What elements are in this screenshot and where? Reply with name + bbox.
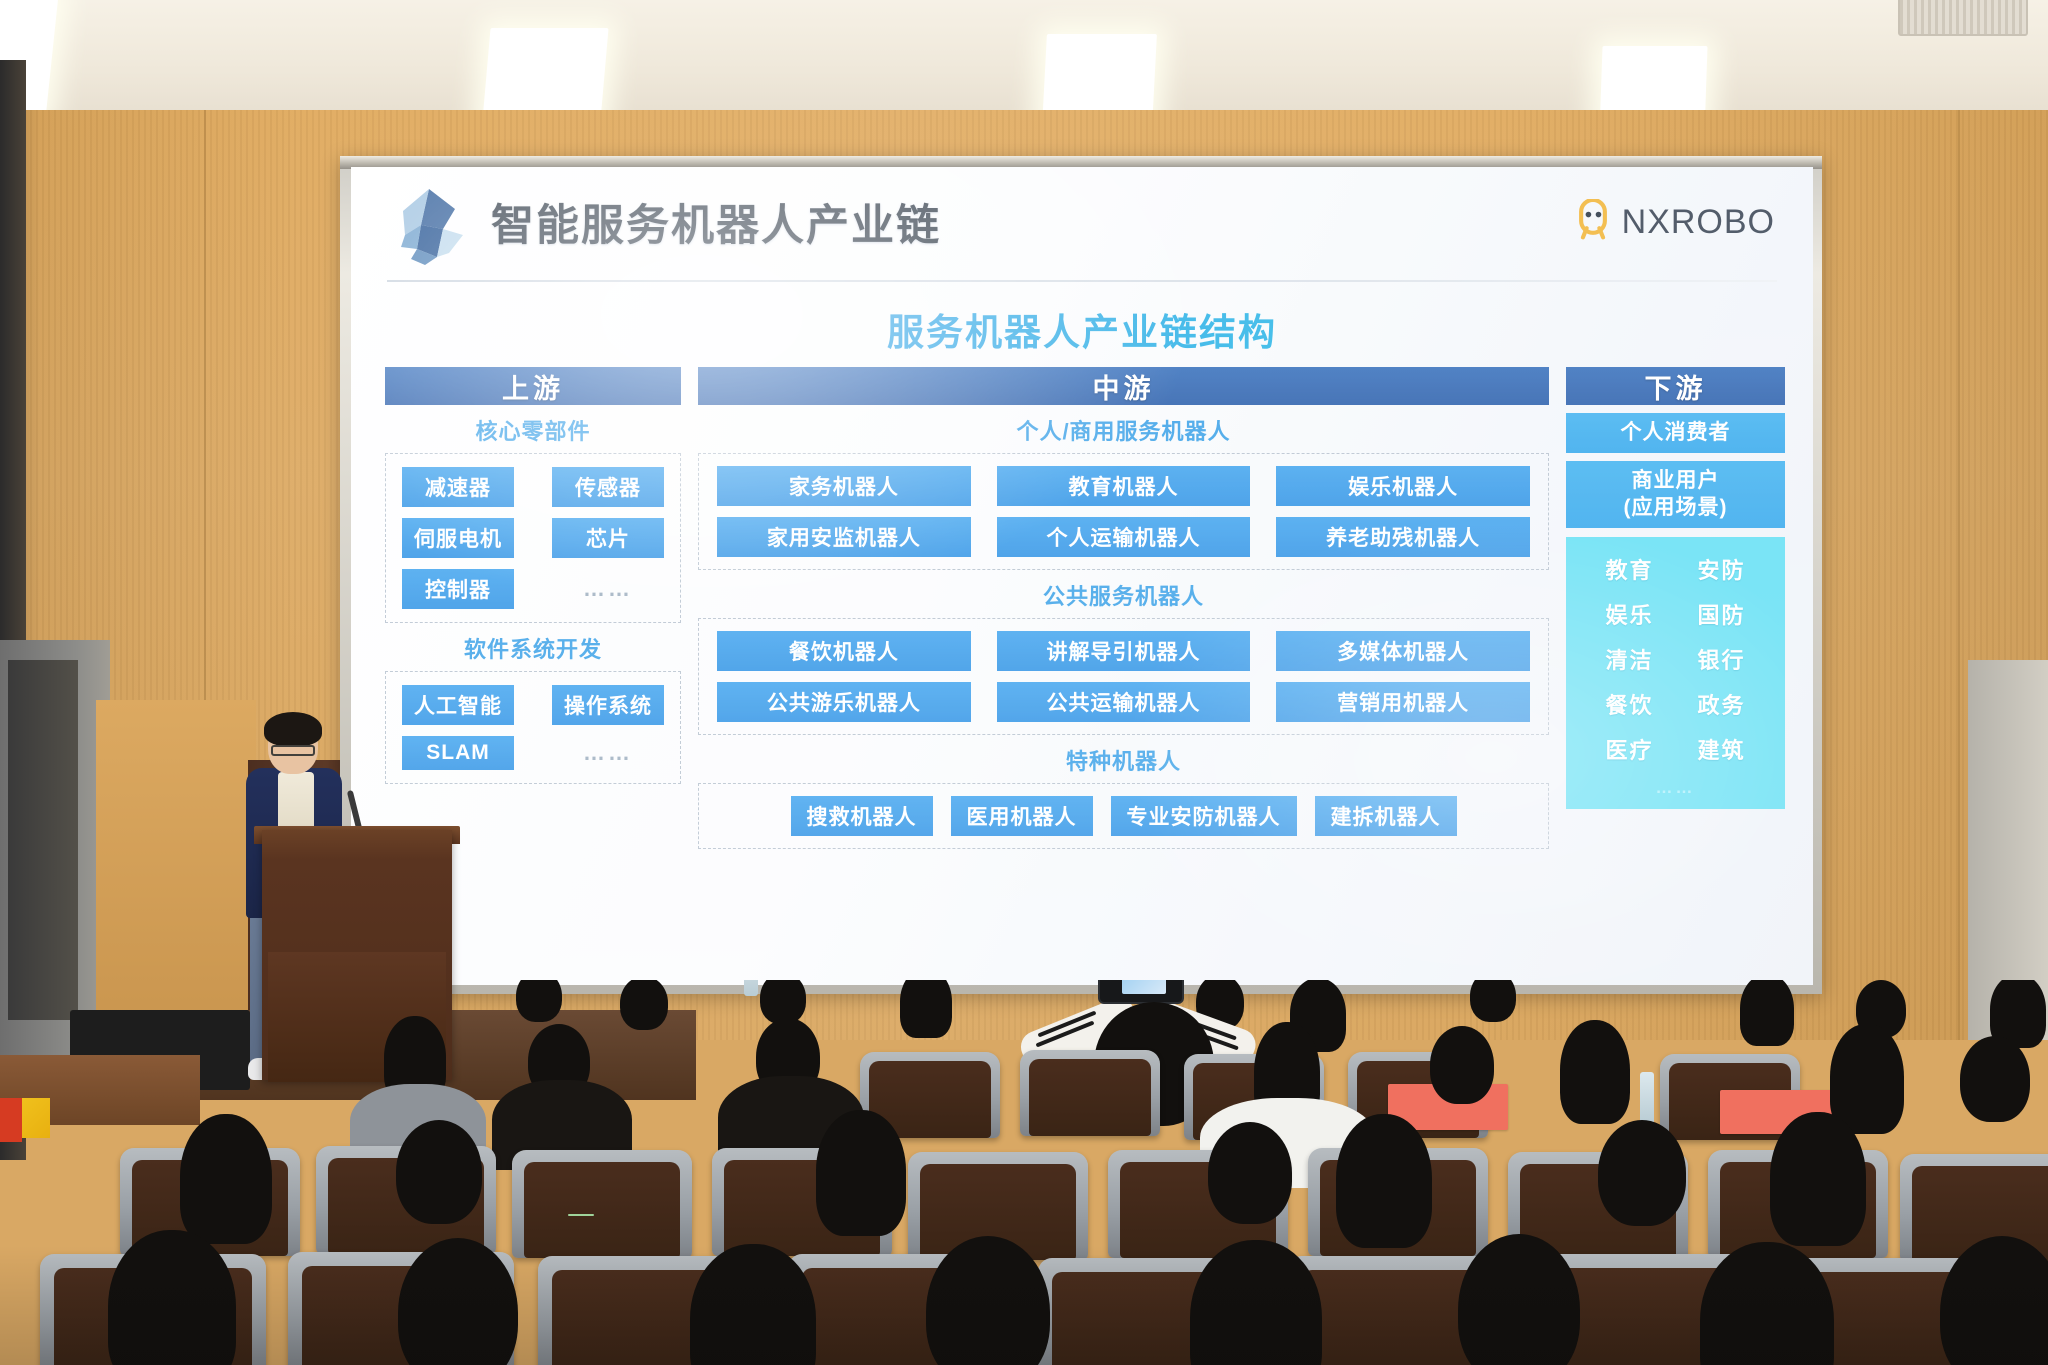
downstream-application-tags: 教育 安防 娱乐 国防 清洁 银行 餐饮 政务 bbox=[1566, 537, 1785, 809]
side-door bbox=[8, 660, 78, 1020]
tag-row: 医疗 建筑 bbox=[1566, 733, 1785, 765]
audience-head bbox=[108, 1230, 236, 1365]
chip-item[interactable]: 搜救机器人 bbox=[791, 796, 933, 836]
subhead-core-components: 核心零部件 bbox=[385, 405, 681, 453]
chip-row: 搜救机器人 医用机器人 专业安防机器人 建拆机器人 bbox=[717, 796, 1530, 836]
audience-head bbox=[1470, 980, 1516, 1022]
crystal-polygon-logo-icon bbox=[387, 185, 471, 269]
chip-item[interactable]: 人工智能 bbox=[402, 685, 514, 725]
chip-row: 减速器 传感器 bbox=[402, 467, 664, 507]
header-divider bbox=[387, 280, 1777, 282]
tag-item[interactable]: 银行 bbox=[1691, 643, 1753, 675]
subhead-public-service: 公共服务机器人 bbox=[698, 570, 1549, 618]
tag-row: 教育 安防 bbox=[1566, 553, 1785, 585]
phone-screen bbox=[1122, 980, 1166, 994]
chip-item[interactable]: 传感器 bbox=[552, 467, 664, 507]
chip-row: 家务机器人 教育机器人 娱乐机器人 bbox=[717, 466, 1530, 506]
column-midstream: 中游 个人/商用服务机器人 家务机器人 教育机器人 娱乐机器人 家用安监机器人 … bbox=[698, 367, 1549, 957]
tag-row: 清洁 银行 bbox=[1566, 643, 1785, 675]
tag-item[interactable]: 医疗 bbox=[1599, 733, 1661, 765]
brand-name: NXROBO bbox=[1622, 203, 1775, 242]
audience-head bbox=[1208, 1122, 1292, 1224]
chip-item[interactable]: 减速器 bbox=[402, 467, 514, 507]
ellipsis-more: …… bbox=[1566, 778, 1785, 798]
nxrobo-robot-icon bbox=[1572, 199, 1614, 246]
chip-item[interactable]: 控制器 bbox=[402, 569, 514, 609]
chip-item[interactable]: 教育机器人 bbox=[997, 466, 1251, 506]
chip-row: 餐饮机器人 讲解导引机器人 多媒体机器人 bbox=[717, 631, 1530, 671]
wall-seam bbox=[1958, 110, 1960, 1040]
chip-row: 公共游乐机器人 公共运输机器人 营销用机器人 bbox=[717, 682, 1530, 722]
tag-item[interactable]: 国防 bbox=[1691, 598, 1753, 630]
chip-item[interactable]: 养老助残机器人 bbox=[1276, 517, 1530, 557]
column-header-midstream: 中游 bbox=[698, 367, 1549, 405]
audience-head bbox=[1430, 1026, 1494, 1104]
ellipsis-more: …… bbox=[552, 576, 664, 602]
chip-item[interactable]: 操作系统 bbox=[552, 685, 664, 725]
glasses-icon bbox=[271, 745, 315, 756]
projection-screen-frame: 智能服务机器人产业链 NXROBO 服务机器人产业链结构 bbox=[340, 156, 1822, 994]
chip-item[interactable]: 专业安防机器人 bbox=[1111, 796, 1297, 836]
audience-head bbox=[1336, 1114, 1432, 1248]
tag-item[interactable]: 安防 bbox=[1691, 553, 1753, 585]
column-downstream: 下游 个人消费者 商业用户 (应用场景) 教育 安防 bbox=[1566, 367, 1785, 957]
ellipsis-more: …… bbox=[552, 740, 664, 766]
water-bottle bbox=[1640, 1072, 1654, 1124]
downstream-box-line: 商业用户 bbox=[1566, 468, 1785, 494]
audience-head bbox=[516, 980, 562, 1022]
subhead-personal-commercial: 个人/商用服务机器人 bbox=[698, 405, 1549, 453]
tag-item[interactable]: 教育 bbox=[1599, 553, 1661, 585]
chip-item[interactable]: 伺服电机 bbox=[402, 518, 514, 558]
presentation-slide: 智能服务机器人产业链 NXROBO 服务机器人产业链结构 bbox=[351, 167, 1813, 985]
chip-row: SLAM …… bbox=[402, 736, 664, 770]
auditorium-room: 智能服务机器人产业链 NXROBO 服务机器人产业链结构 bbox=[0, 0, 2048, 1365]
seat bbox=[512, 1150, 692, 1258]
group-core-components: 减速器 传感器 伺服电机 芯片 控制器 …… bbox=[385, 453, 681, 623]
audience-head bbox=[1560, 1020, 1630, 1124]
downstream-box-line: 个人消费者 bbox=[1566, 420, 1785, 446]
downstream-box-line: (应用场景) bbox=[1566, 495, 1785, 521]
chip-row: 控制器 …… bbox=[402, 569, 664, 609]
audience-head bbox=[900, 980, 952, 1038]
audience-head bbox=[180, 1114, 272, 1244]
chip-item[interactable]: SLAM bbox=[402, 736, 514, 770]
downstream-box-consumer[interactable]: 个人消费者 bbox=[1566, 413, 1785, 453]
tag-item[interactable]: 建筑 bbox=[1691, 733, 1753, 765]
tag-row: 餐饮 政务 bbox=[1566, 688, 1785, 720]
chip-item[interactable]: 芯片 bbox=[552, 518, 664, 558]
chip-item[interactable]: 建拆机器人 bbox=[1315, 796, 1457, 836]
chip-item[interactable]: 餐饮机器人 bbox=[717, 631, 971, 671]
audience-head bbox=[816, 1110, 906, 1236]
seat-number bbox=[568, 1214, 594, 1216]
chip-item[interactable]: 讲解导引机器人 bbox=[997, 631, 1251, 671]
chip-item[interactable]: 医用机器人 bbox=[951, 796, 1093, 836]
chip-row: 人工智能 操作系统 bbox=[402, 685, 664, 725]
tag-item[interactable]: 清洁 bbox=[1599, 643, 1661, 675]
group-special-robots: 搜救机器人 医用机器人 专业安防机器人 建拆机器人 bbox=[698, 783, 1549, 849]
chip-item[interactable]: 公共运输机器人 bbox=[997, 682, 1251, 722]
chip-item[interactable]: 家用安监机器人 bbox=[717, 517, 971, 557]
tag-item[interactable]: 政务 bbox=[1691, 688, 1753, 720]
chart-title: 服务机器人产业链结构 bbox=[351, 302, 1813, 356]
chip-item[interactable]: 营销用机器人 bbox=[1276, 682, 1530, 722]
water-bottle bbox=[744, 980, 758, 996]
audience-head bbox=[1770, 1112, 1866, 1246]
column-header-upstream: 上游 bbox=[385, 367, 681, 405]
brand-logo: NXROBO bbox=[1572, 199, 1775, 246]
page-title: 智能服务机器人产业链 bbox=[491, 191, 941, 253]
chip-item[interactable]: 娱乐机器人 bbox=[1276, 466, 1530, 506]
audience-head bbox=[1598, 1120, 1686, 1226]
audience-head bbox=[620, 980, 668, 1030]
chip-item[interactable]: 公共游乐机器人 bbox=[717, 682, 971, 722]
group-personal-commercial: 家务机器人 教育机器人 娱乐机器人 家用安监机器人 个人运输机器人 养老助残机器… bbox=[698, 453, 1549, 570]
subhead-special-robots: 特种机器人 bbox=[698, 735, 1549, 783]
group-software-system: 人工智能 操作系统 SLAM …… bbox=[385, 671, 681, 784]
chip-row: 伺服电机 芯片 bbox=[402, 518, 664, 558]
speaker-hair bbox=[264, 712, 322, 746]
audience-area bbox=[0, 980, 2048, 1365]
ceiling bbox=[0, 0, 2048, 118]
tag-row: 娱乐 国防 bbox=[1566, 598, 1785, 630]
group-public-service: 餐饮机器人 讲解导引机器人 多媒体机器人 公共游乐机器人 公共运输机器人 营销用… bbox=[698, 618, 1549, 735]
audience-head bbox=[1960, 1036, 2030, 1122]
value-chain-diagram: 上游 核心零部件 减速器 传感器 伺服电机 芯片 控制器 bbox=[385, 367, 1785, 957]
downstream-box-business[interactable]: 商业用户 (应用场景) bbox=[1566, 461, 1785, 528]
audience-head bbox=[1740, 980, 1794, 1046]
column-header-downstream: 下游 bbox=[1566, 367, 1785, 405]
smartphone-icon bbox=[1098, 980, 1184, 1004]
chip-item[interactable]: 个人运输机器人 bbox=[997, 517, 1251, 557]
audience-head bbox=[1830, 1024, 1904, 1134]
chip-item[interactable]: 家务机器人 bbox=[717, 466, 971, 506]
air-vent bbox=[1898, 0, 2028, 36]
audience-head bbox=[396, 1120, 482, 1224]
tag-item[interactable]: 娱乐 bbox=[1599, 598, 1661, 630]
chip-item[interactable]: 多媒体机器人 bbox=[1276, 631, 1530, 671]
seat bbox=[1020, 1050, 1160, 1136]
tag-item[interactable]: 餐饮 bbox=[1599, 688, 1661, 720]
chip-row: 家用安监机器人 个人运输机器人 养老助残机器人 bbox=[717, 517, 1530, 557]
slide-header: 智能服务机器人产业链 NXROBO bbox=[351, 167, 1813, 285]
subhead-software-system: 软件系统开发 bbox=[385, 623, 681, 671]
